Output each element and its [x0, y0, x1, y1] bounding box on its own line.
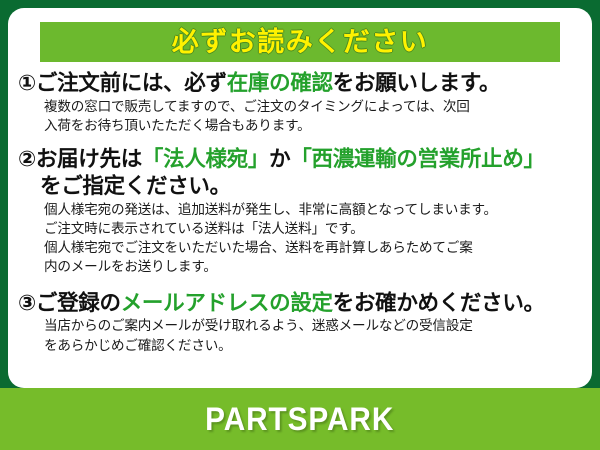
- banner-title: 必ずお読みください: [172, 29, 429, 56]
- item-1-body-line-1: 複数の窓口で販売してますので、ご注文のタイミングによっては、次回: [18, 97, 582, 116]
- item-3-headline-highlight: メールアドレスの設定: [121, 291, 333, 315]
- item-3-headline-tail: をお確かめください。: [333, 291, 545, 315]
- item-3-body-line-2: をあらかじめご確認ください。: [18, 336, 582, 355]
- item-2-headline-highlight-1: 「法人様宛」: [142, 147, 269, 171]
- item-2-headline-highlight-2: 「西濃運輸の営業所止め」: [290, 147, 544, 171]
- title-bar: 必ずお読みください: [40, 22, 560, 62]
- item-2-number: ②: [18, 147, 36, 171]
- item-2-headline-lead: お届け先は: [36, 147, 142, 171]
- item-1-headline-highlight: 在庫の確認: [227, 71, 333, 95]
- notice-banner: 必ずお読みください ①ご注文前には、必ず在庫の確認をお願いします。 複数の窓口で…: [0, 0, 600, 450]
- brand-name: PARTSPARK: [205, 401, 394, 438]
- notice-item-3: ③ご登録のメールアドレスの設定をお確かめください。 当店からのご案内メールが受け…: [18, 290, 582, 355]
- item-2-body-line-3: 個人様宅宛でご注文をいただいた場合、送料を再計算しあらためてご案: [18, 238, 582, 257]
- item-2-headline-line-2: をご指定ください。: [18, 173, 582, 200]
- item-1-number: ①: [18, 71, 36, 95]
- item-2-body-line-1: 個人様宅宛の発送は、追加送料が発生し、非常に高額となってしまいます。: [18, 200, 582, 219]
- notice-item-2: ②お届け先は「法人様宛」か「西濃運輸の営業所止め」 をご指定ください。 個人様宅…: [18, 146, 582, 277]
- notice-content: ①ご注文前には、必ず在庫の確認をお願いします。 複数の窓口で販売してますので、ご…: [18, 68, 582, 384]
- item-1-body-line-2: 入荷をお待ち頂いたただく場合もあります。: [18, 116, 582, 135]
- item-3-headline: ③ご登録のメールアドレスの設定をお確かめください。: [18, 290, 582, 317]
- notice-card: 必ずお読みください ①ご注文前には、必ず在庫の確認をお願いします。 複数の窓口で…: [8, 8, 592, 388]
- brand-footer: PARTSPARK: [0, 388, 600, 450]
- item-3-headline-lead: ご登録の: [36, 291, 121, 315]
- notice-item-1: ①ご注文前には、必ず在庫の確認をお願いします。 複数の窓口で販売してますので、ご…: [18, 70, 582, 135]
- item-2-headline-middle: か: [269, 147, 290, 171]
- item-3-number: ③: [18, 291, 36, 315]
- item-2-body-line-4: 内のメールをお送りします。: [18, 257, 582, 276]
- item-1-headline: ①ご注文前には、必ず在庫の確認をお願いします。: [18, 70, 582, 97]
- item-1-headline-tail: をお願いします。: [333, 71, 500, 95]
- item-2-headline: ②お届け先は「法人様宛」か「西濃運輸の営業所止め」: [18, 146, 582, 173]
- item-1-headline-lead: ご注文前には、必ず: [36, 71, 227, 95]
- item-2-body-line-2: ご注文時に表示されている送料は「法人送料」です。: [18, 219, 582, 238]
- item-3-body-line-1: 当店からのご案内メールが受け取れるよう、迷惑メールなどの受信設定: [18, 316, 582, 335]
